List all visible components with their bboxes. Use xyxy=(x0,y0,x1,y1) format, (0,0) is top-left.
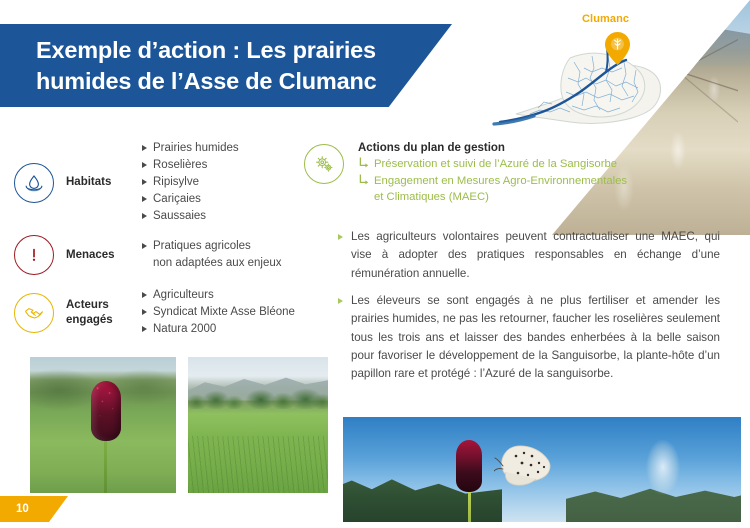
gears-icon xyxy=(304,144,344,184)
sanguisorbe-plant xyxy=(91,381,121,493)
paragraph-maec: Les agriculteurs volontaires peuvent con… xyxy=(338,228,720,283)
list-item-label: Syndicat Mixte Asse Bléone xyxy=(153,306,295,318)
corner-arrow-icon xyxy=(359,157,369,169)
sanguisorbe-stem xyxy=(468,492,471,522)
category-acteurs: Acteurs engagés Agriculteurs Syndicat Mi… xyxy=(14,287,324,338)
list-item: Préservation et suivi de l’Azuré de la S… xyxy=(358,156,627,172)
list-item: Cariçaies xyxy=(142,191,239,208)
page-title: Exemple d’action : Les prairies humides … xyxy=(36,35,376,95)
title-banner: Exemple d’action : Les prairies humides … xyxy=(0,24,452,107)
paragraph-text: Les éleveurs se sont engagés à ne plus f… xyxy=(351,294,720,380)
treeline xyxy=(188,387,328,409)
list-item-label: Saussaies xyxy=(153,210,206,222)
bullet-triangle-icon xyxy=(142,309,147,315)
page-number-banner: 10 xyxy=(0,496,68,522)
list-item: Roselières xyxy=(142,157,239,174)
list-item-label: Natura 2000 xyxy=(153,323,216,335)
list-item-label: Prairies humides xyxy=(153,142,239,154)
menaces-items: Pratiques agricoles non adaptées aux enj… xyxy=(142,238,282,272)
actions-items: Préservation et suivi de l’Azuré de la S… xyxy=(358,156,627,205)
photo-sanguisorbe-flower xyxy=(30,357,176,493)
list-item: Engagement en Mesures Agro-Environnement… xyxy=(358,173,627,205)
list-item: Ripisylve xyxy=(142,174,239,191)
list-item: Prairies humides xyxy=(142,140,239,157)
acteurs-items: Agriculteurs Syndicat Mixte Asse Bléone … xyxy=(142,287,295,338)
bullet-triangle-icon xyxy=(142,196,147,202)
bullet-triangle-icon xyxy=(142,162,147,168)
list-item: Pratiques agricoles non adaptées aux enj… xyxy=(142,238,282,272)
list-item: Agriculteurs xyxy=(142,287,295,304)
bullet-triangle-icon xyxy=(142,243,147,249)
bullet-triangle-icon xyxy=(142,326,147,332)
category-list: Habitats Prairies humides Roselières Rip… xyxy=(14,140,324,342)
actions-title: Actions du plan de gestion xyxy=(358,142,627,154)
bullet-triangle-icon xyxy=(338,298,343,304)
list-item-label: Engagement en Mesures Agro-Environnement… xyxy=(374,175,627,187)
blurred-foreground-tuft xyxy=(637,432,689,510)
sanguisorbe-stem xyxy=(104,441,107,493)
list-item-label: Cariçaies xyxy=(153,193,201,205)
paragraph-eleveurs: Les éleveurs se sont engagés à ne plus f… xyxy=(338,292,720,384)
warning-exclamation-icon xyxy=(14,235,54,275)
watershed-map-svg xyxy=(474,18,674,138)
list-item-label: Ripisylve xyxy=(153,176,199,188)
list-item-label-continuation: non adaptées aux enjeux xyxy=(153,255,282,272)
list-item: Saussaies xyxy=(142,208,239,225)
category-menaces: Menaces Pratiques agricoles non adaptées… xyxy=(14,235,324,275)
category-label-habitats: Habitats xyxy=(66,175,142,190)
bullet-triangle-icon xyxy=(142,213,147,219)
corner-arrow-icon xyxy=(359,174,369,186)
handshake-icon xyxy=(14,293,54,333)
bullet-triangle-icon xyxy=(142,292,147,298)
list-item: Syndicat Mixte Asse Bléone xyxy=(142,304,295,321)
sanguisorbe-flower-head xyxy=(91,381,121,441)
azure-butterfly-icon xyxy=(494,442,556,490)
map-pin-icon xyxy=(605,32,630,65)
photo-wet-meadow xyxy=(188,357,328,493)
category-habitats: Habitats Prairies humides Roselières Rip… xyxy=(14,140,324,225)
list-item-label: Préservation et suivi de l’Azuré de la S… xyxy=(374,158,617,170)
watershed-map: Clumanc xyxy=(474,4,674,139)
sanguisorbe-plant xyxy=(456,440,482,522)
water-droplet-icon xyxy=(14,163,54,203)
bullet-triangle-icon xyxy=(142,145,147,151)
habitats-items: Prairies humides Roselières Ripisylve Ca… xyxy=(142,140,239,225)
paragraph-text: Les agriculteurs volontaires peuvent con… xyxy=(351,230,720,280)
list-item-label: Roselières xyxy=(153,159,207,171)
list-item-label: Pratiques agricoles xyxy=(153,240,251,252)
list-item: Natura 2000 xyxy=(142,321,295,338)
photo-butterfly-on-sanguisorbe xyxy=(343,417,741,522)
actions-plan-block: Actions du plan de gestion Préservation … xyxy=(304,142,704,206)
sanguisorbe-flower-head xyxy=(456,440,482,492)
meadow-background xyxy=(188,357,328,493)
bullet-triangle-icon xyxy=(142,179,147,185)
bullet-triangle-icon xyxy=(338,234,343,240)
grass-texture xyxy=(188,436,328,493)
list-item-label: Agriculteurs xyxy=(153,289,214,301)
page-number: 10 xyxy=(16,503,29,515)
category-label-menaces: Menaces xyxy=(66,248,142,263)
category-label-acteurs: Acteurs engagés xyxy=(66,298,142,328)
list-item-label-continuation: et Climatiques (MAEC) xyxy=(374,189,627,205)
